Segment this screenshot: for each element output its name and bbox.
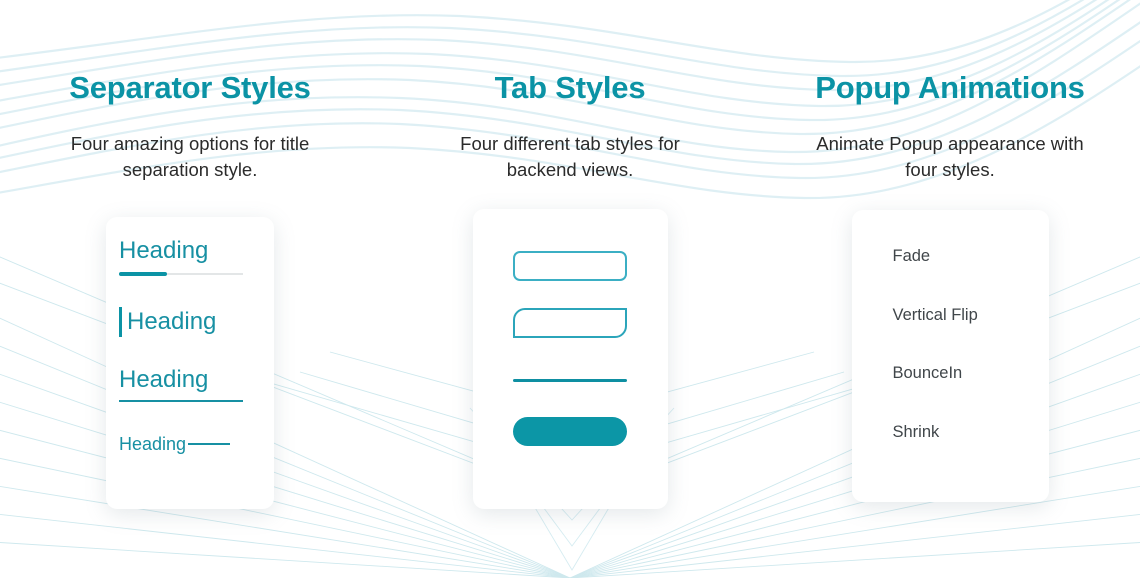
- separator-option-trailing-line[interactable]: Heading: [119, 435, 230, 453]
- list-item[interactable]: BounceIn: [893, 365, 963, 382]
- column-title-separator-styles: Separator Styles: [69, 72, 310, 105]
- list-item[interactable]: Vertical Flip: [893, 307, 978, 324]
- separator-heading-label: Heading: [119, 368, 243, 392]
- separator-preview-card: Heading Heading Heading Heading: [106, 217, 274, 509]
- column-subtitle-tab-styles: Four different tab styles for backend vi…: [425, 131, 715, 185]
- tab-option-outline-rounded-rect[interactable]: [513, 251, 627, 281]
- separator-option-left-bar[interactable]: Heading: [119, 307, 216, 337]
- column-tab-styles: Tab Styles Four different tab styles for…: [380, 0, 760, 578]
- tab-underline-bar: [513, 379, 627, 382]
- separator-rule-accent: [119, 272, 167, 276]
- column-title-tab-styles: Tab Styles: [495, 72, 646, 105]
- column-subtitle-separator-styles: Four amazing options for title separatio…: [45, 131, 335, 185]
- tab-option-underline-only[interactable]: [513, 365, 627, 395]
- separator-rule-underline: [119, 400, 243, 402]
- separator-heading-label: Heading: [127, 310, 216, 334]
- separator-option-short-bar[interactable]: Heading: [119, 239, 243, 276]
- popup-animation-list-card: Fade Vertical Flip BounceIn Shrink: [852, 210, 1049, 502]
- tab-option-filled-pill[interactable]: [513, 417, 627, 446]
- column-popup-animations: Popup Animations Animate Popup appearanc…: [760, 0, 1140, 578]
- separator-rule-short-bar: [119, 272, 243, 276]
- column-title-popup-animations: Popup Animations: [815, 72, 1084, 105]
- separator-heading-label: Heading: [119, 239, 243, 263]
- tab-preview-card: [473, 209, 668, 509]
- list-item[interactable]: Fade: [893, 248, 931, 265]
- separator-option-underline[interactable]: Heading: [119, 368, 243, 402]
- separator-heading-label: Heading: [119, 435, 186, 453]
- tab-option-outline-diagonal-corners[interactable]: [513, 308, 627, 338]
- column-separator-styles: Separator Styles Four amazing options fo…: [0, 0, 380, 578]
- feature-columns: Separator Styles Four amazing options fo…: [0, 0, 1140, 578]
- separator-rule-trailing: [188, 443, 230, 445]
- column-subtitle-popup-animations: Animate Popup appearance with four style…: [805, 131, 1095, 185]
- list-item[interactable]: Shrink: [893, 424, 940, 441]
- separator-vertical-bar: [119, 307, 122, 337]
